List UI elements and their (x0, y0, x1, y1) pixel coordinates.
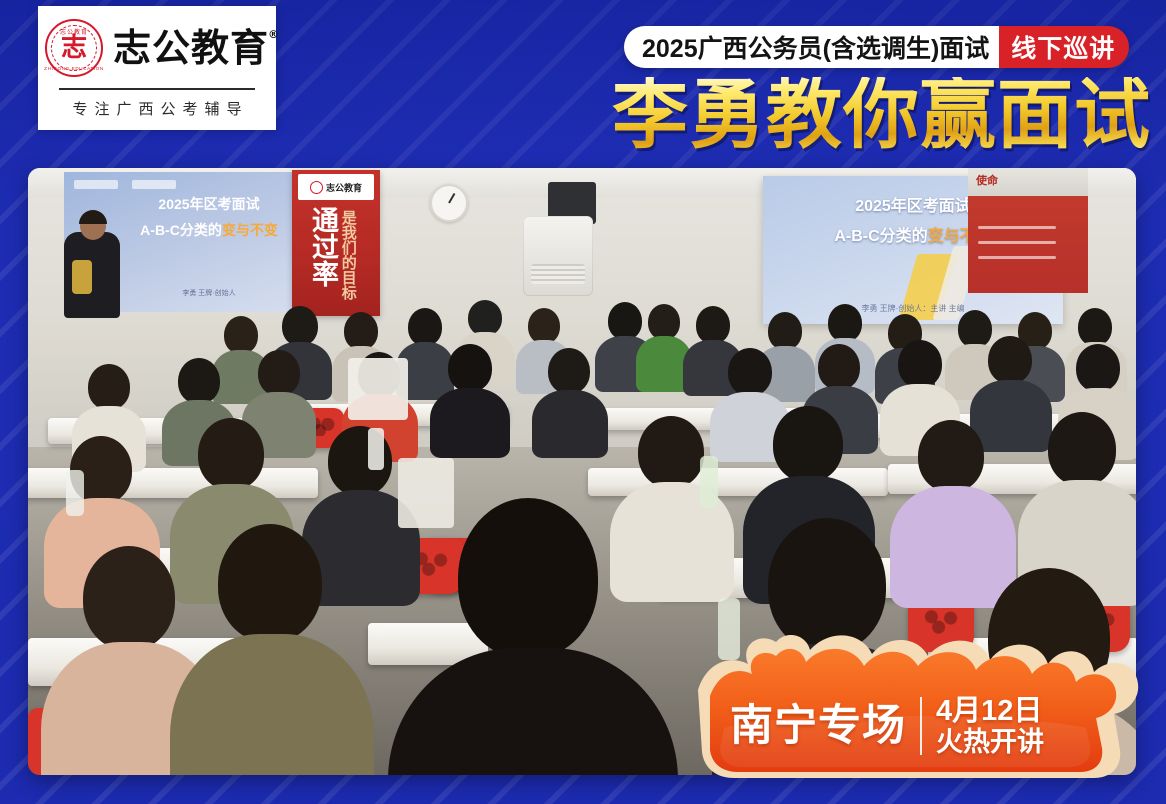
red-vertical-banner: 志公教育 通过率 是我们的目标 (292, 170, 380, 316)
right-banner-title: 使命 (976, 172, 998, 188)
flame-badge: 南宁专场 4月12日 火热开讲 (690, 628, 1145, 788)
tote-bag (348, 358, 408, 420)
screen-left-line2: A-B-C分类的变与不变 (140, 220, 278, 240)
flame-subtitle-label: 火热开讲 (936, 729, 1044, 756)
red-banner-logo-text: 志公教育 (326, 181, 362, 194)
subject-pill-main-text: 2025广西公务员(含选调生)面试 (624, 26, 999, 68)
seal-center-char: 志 (61, 35, 87, 61)
red-banner-sub-text: 是我们的目标 (340, 210, 356, 300)
subject-pill: 2025广西公务员(含选调生)面试 线下巡讲 (624, 26, 1129, 68)
poster-root: 志公教育 志 ZHIGONG EDUCATION 志公教育 ® 专注广西公考辅导… (0, 0, 1166, 804)
air-conditioner (523, 216, 593, 296)
brand-slogan: 专注广西公考辅导 (65, 98, 248, 119)
screen-left-logos (74, 180, 176, 189)
flame-date-group: 4月12日 火热开讲 (936, 697, 1044, 756)
headline-block: 李勇教你赢面试 (612, 76, 1142, 154)
headline-title: 李勇教你赢面试 (612, 77, 1151, 153)
seal-bottom-text: ZHIGONG EDUCATION (44, 66, 104, 71)
logo-divider (59, 88, 255, 90)
flame-date-label: 4月12日 (936, 697, 1044, 726)
flame-separator (920, 697, 922, 755)
water-bottle (66, 470, 84, 516)
water-bottle (368, 428, 384, 470)
screen-right-line1: 2025年区考面试 (855, 192, 971, 216)
wall-clock-icon (430, 184, 468, 222)
red-banner-logo: 志公教育 (298, 174, 374, 200)
screen-left-line1: 2025年区考面试 (158, 194, 259, 214)
brand-name: 志公教育 ® (113, 29, 269, 67)
screen-left-credit: 李勇 王牌·创始人 (182, 288, 235, 298)
red-banner-seal-icon (310, 181, 323, 194)
screen-right-credit: 李勇 王牌·创始人：主讲 主编 (861, 303, 964, 314)
brand-logo-card: 志公教育 志 ZHIGONG EDUCATION 志公教育 ® 专注广西公考辅导 (38, 6, 276, 130)
flame-city-label: 南宁专场 (730, 705, 906, 748)
registered-mark: ® (268, 29, 280, 40)
red-banner-main-text: 通过率 (300, 206, 336, 287)
subject-pill-badge: 线下巡讲 (999, 26, 1129, 68)
seal-icon: 志公教育 志 ZHIGONG EDUCATION (45, 19, 103, 77)
logo-row: 志公教育 志 ZHIGONG EDUCATION 志公教育 ® (45, 19, 269, 77)
brand-name-text: 志公教育 (113, 26, 269, 70)
water-bottle (700, 456, 718, 508)
right-red-banner: 使命 (968, 168, 1088, 293)
tote-bag (398, 458, 454, 528)
speaker-accent (72, 260, 92, 294)
flame-text-group: 南宁专场 4月12日 火热开讲 (730, 690, 1120, 762)
